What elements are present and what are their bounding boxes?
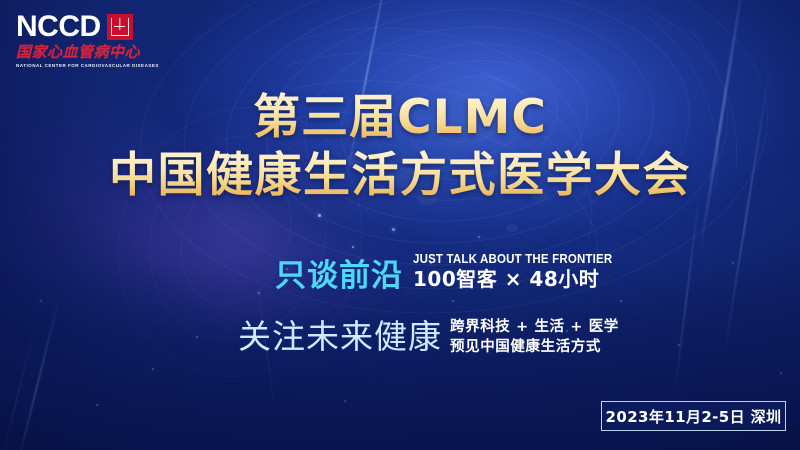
title-line-2: 中国健康生活方式医学大会 — [0, 150, 800, 203]
slogan-secondary-chinese: 关注未来健康 — [238, 320, 442, 353]
slogan-primary: 只谈前沿 JUST TALK ABOUT THE FRONTIER 100智客 … — [275, 253, 630, 292]
conference-poster: NCCD 国家心血管病中心 NATIONAL CENTER FOR CARDIO… — [0, 0, 800, 450]
slogan-primary-detail: 100智客 × 48小时 — [413, 268, 630, 291]
slogan-secondary-line-1: 跨界科技 + 生活 + 医学 — [450, 318, 619, 338]
logo-english-name: NATIONAL CENTER FOR CARDIOVASCULAR DISEA… — [16, 63, 166, 68]
title-line-1: 第三届CLMC — [0, 92, 800, 145]
slogan-secondary-line-2: 预见中国健康生活方式 — [450, 338, 619, 358]
particle-dust — [0, 0, 800, 450]
logo-wordmark-row: NCCD — [16, 12, 166, 42]
nccd-logo: NCCD 国家心血管病中心 NATIONAL CENTER FOR CARDIO… — [16, 12, 166, 68]
logo-wordmark: NCCD — [16, 12, 101, 42]
slogan-secondary: 关注未来健康 跨界科技 + 生活 + 医学 预见中国健康生活方式 — [238, 316, 619, 357]
slogan-primary-chinese: 只谈前沿 — [275, 261, 403, 292]
date-location-badge: 2023年11月2-5日 深圳 — [601, 401, 786, 431]
slogan-primary-details: JUST TALK ABOUT THE FRONTIER 100智客 × 48小… — [413, 253, 630, 292]
date-location-text: 2023年11月2-5日 深圳 — [606, 406, 782, 427]
logo-chinese-name: 国家心血管病中心 — [16, 44, 166, 61]
page-title: 第三届CLMC 中国健康生活方式医学大会 — [0, 92, 800, 202]
slogan-secondary-details: 跨界科技 + 生活 + 医学 预见中国健康生活方式 — [450, 316, 619, 357]
nccd-emblem-icon — [107, 14, 133, 40]
slogan-primary-english: JUST TALK ABOUT THE FRONTIER — [413, 253, 612, 267]
